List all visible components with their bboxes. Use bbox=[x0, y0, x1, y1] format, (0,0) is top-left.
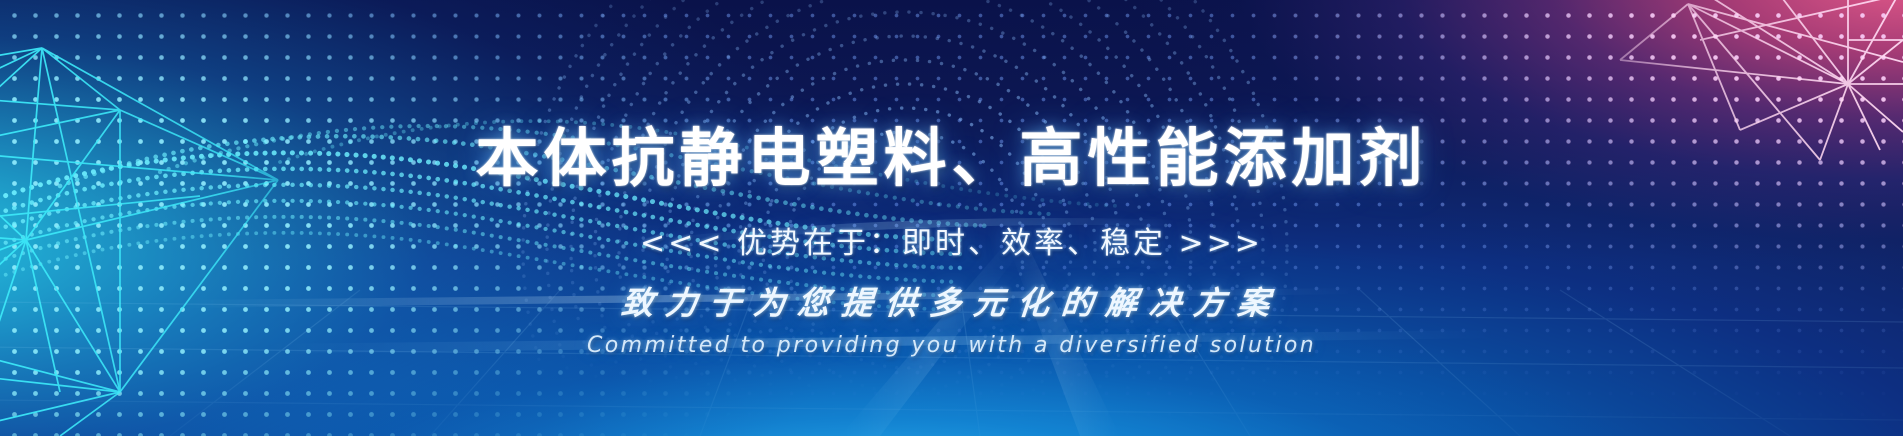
background-top-vignette bbox=[0, 0, 1903, 436]
banner-headline: 本体抗静电塑料、高性能添加剂 bbox=[0, 108, 1903, 199]
dot-matrix-global bbox=[0, 0, 1903, 436]
banner-slogan-english: Committed to providing you with a divers… bbox=[0, 333, 1903, 358]
perspective-grid bbox=[0, 0, 1903, 436]
arc-dot-pattern bbox=[0, 0, 1903, 436]
dot-matrix-right bbox=[0, 0, 1903, 436]
banner-subtitle: <<< 优势在于：即时、效率、稳定 >>> bbox=[0, 218, 1903, 262]
left-wireframe-polyhedron bbox=[0, 0, 1903, 436]
right-wireframe-fan bbox=[0, 0, 1903, 436]
banner-content: 本体抗静电塑料、高性能添加剂 <<< 优势在于：即时、效率、稳定 >>> 致力于… bbox=[0, 0, 1903, 436]
dot-matrix-left bbox=[0, 0, 1903, 436]
banner-slogan-chinese: 致力于为您提供多元化的解决方案 bbox=[0, 278, 1903, 324]
background-base-gradient bbox=[0, 0, 1903, 436]
background-right-magenta-glow bbox=[0, 0, 1903, 436]
particle-wave bbox=[0, 0, 1903, 436]
background-left-cyan-glow bbox=[0, 0, 1903, 436]
light-streaks bbox=[0, 0, 1903, 436]
hero-banner: 本体抗静电塑料、高性能添加剂 <<< 优势在于：即时、效率、稳定 >>> 致力于… bbox=[0, 0, 1903, 436]
background-bottom-glow bbox=[0, 0, 1903, 436]
